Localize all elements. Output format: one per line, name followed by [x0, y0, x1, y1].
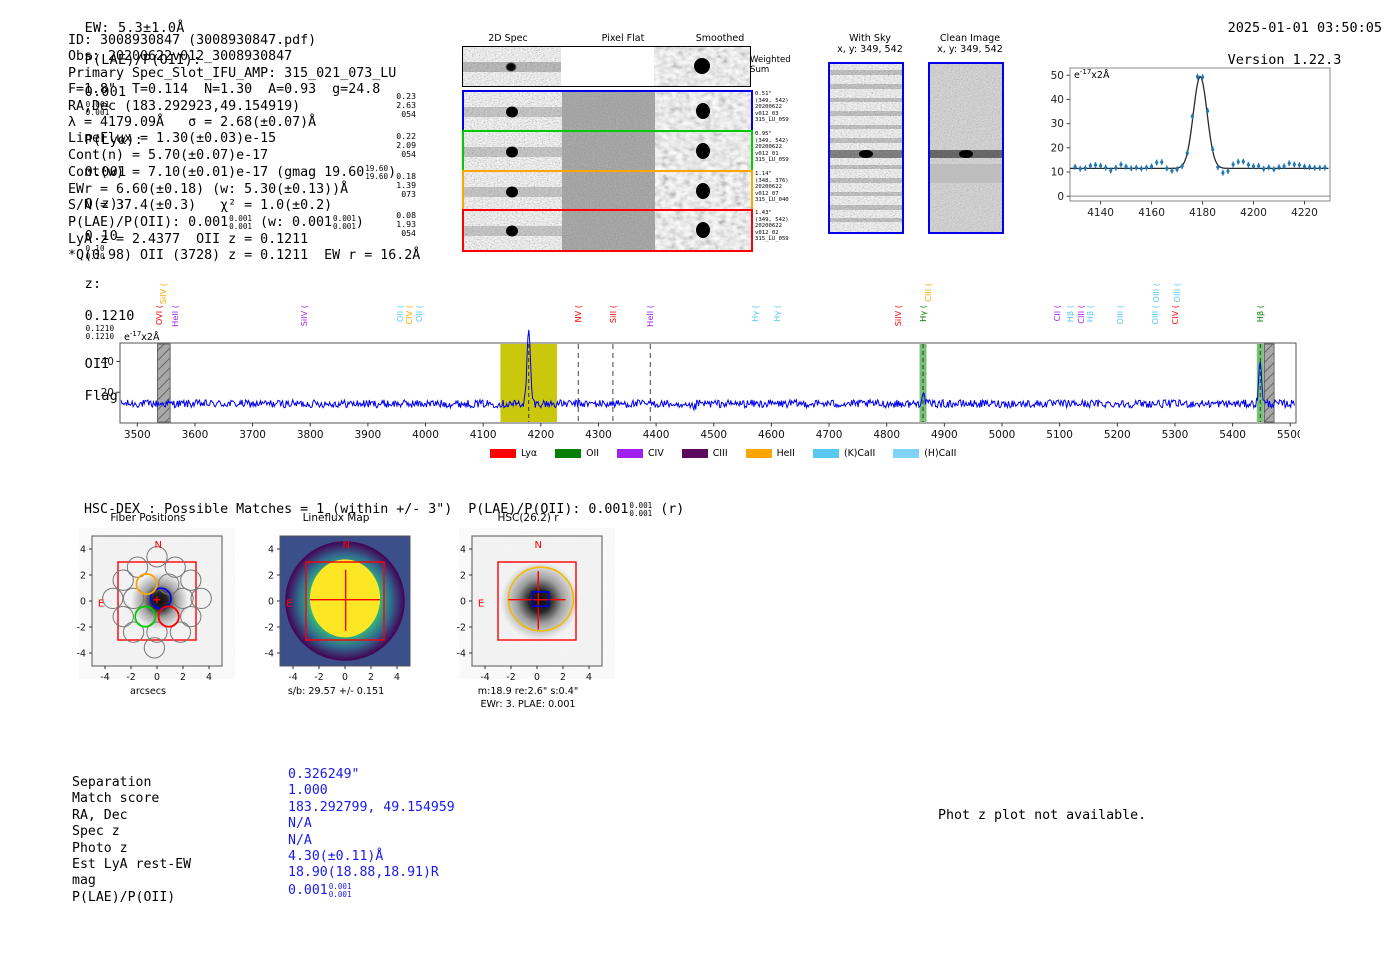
spec2d-row-right-label: 0.51" (349, 542) 20200622 v012_03 315_LU… — [755, 91, 789, 124]
legend-swatch — [617, 449, 643, 458]
match-table-label: Photo z — [72, 841, 191, 857]
spec2d-weighted-sum-label: Weighted Sum — [750, 55, 791, 75]
svg-text:-2: -2 — [77, 622, 86, 633]
svg-text:-4: -4 — [288, 672, 297, 683]
spectrum-line-label: Hβ ( — [1065, 305, 1075, 322]
legend-swatch — [682, 449, 708, 458]
spectrum-line-label: OIII ( — [1151, 283, 1161, 303]
svg-text:4: 4 — [586, 672, 592, 683]
spec2d-weighted-sum-pixelflat — [561, 47, 654, 86]
svg-text:E: E — [286, 598, 292, 609]
svg-text:4900: 4900 — [931, 429, 958, 441]
info-radec: RA,Dec (183.292923,49.154919) — [68, 99, 420, 115]
legend-swatch — [490, 449, 516, 458]
spec2d-row-left-label: 0.22 2.09 054 — [380, 132, 416, 160]
svg-text:30: 30 — [1051, 118, 1064, 130]
hsc-panel: Lineflux MapNE-4-4-2-2002244s/b: 29.57 +… — [248, 528, 424, 712]
hsc-panel-title: HSC(26.2) r — [440, 512, 616, 524]
info-lambda-sigma: λ = 4179.09Å σ = 2.68(±0.07)Å — [68, 115, 420, 131]
spec2d-weighted-sum-smoothed — [654, 47, 750, 86]
match-table-label: Est LyA rest-EW — [72, 857, 191, 873]
info-plae-poii: P(LAE)/P(OII): 0.0010.0010.001 (w: 0.001… — [68, 214, 420, 231]
spec2d-cell-pixelflat — [562, 132, 655, 171]
photz-plot-message: Phot z plot not available. — [938, 808, 1146, 823]
svg-text:0: 0 — [460, 596, 466, 607]
zoom-line-profile-chart: 4140416041804200422001020304050e-17x2Å — [1036, 60, 1336, 225]
spec2d-exposure-row — [462, 90, 753, 133]
legend-label: HeII — [777, 448, 795, 459]
legend-swatch — [746, 449, 772, 458]
svg-text:3500: 3500 — [124, 429, 151, 441]
spectrum-line-label: CIII ( — [923, 283, 933, 302]
svg-text:4200: 4200 — [527, 429, 554, 441]
svg-text:2: 2 — [460, 570, 466, 581]
svg-text:4400: 4400 — [643, 429, 670, 441]
spectrum-line-label: HeII ( — [170, 305, 180, 327]
info-ewr: EWr = 6.60(±0.18) (w: 5.30(±0.13))Å — [68, 182, 420, 198]
svg-text:2: 2 — [80, 570, 86, 581]
info-cont-w: Cont(w) = 7.10(±0.01)e-17 (gmag 19.6019.… — [68, 164, 420, 181]
svg-text:2: 2 — [560, 672, 566, 683]
svg-text:10: 10 — [1051, 167, 1064, 179]
svg-text:0: 0 — [268, 596, 274, 607]
svg-text:4800: 4800 — [873, 429, 900, 441]
info-classification: *Q(0.98) OII (3728) z = 0.1211 EW r = 16… — [68, 248, 420, 264]
spec2d-cell-pixelflat — [562, 172, 655, 211]
match-table-label: RA, Dec — [72, 808, 191, 824]
svg-text:4500: 4500 — [700, 429, 727, 441]
svg-text:5300: 5300 — [1162, 429, 1189, 441]
hsc-panel-sublabel-2: EWr: 3. PLAE: 0.001 — [440, 699, 616, 711]
svg-text:4300: 4300 — [585, 429, 612, 441]
spec2d-weighted-sum-2dspec — [463, 47, 561, 86]
info-cont-n: Cont(n) = 5.70(±0.07)e-17 — [68, 148, 420, 164]
svg-text:N: N — [535, 540, 542, 551]
svg-text:4: 4 — [80, 544, 86, 555]
svg-text:0: 0 — [342, 672, 348, 683]
hsc-panel-sublabel: s/b: 29.57 +/- 0.151 — [248, 686, 424, 698]
full-spectrum-legend: LyαOIICIVCIIIHeII(K)CaII(H)CaII — [490, 448, 974, 459]
svg-text:20: 20 — [1051, 142, 1064, 154]
spec2d-row-right-label: 0.95" (349, 542) 20200622 v012_01 315_LU… — [755, 131, 789, 164]
svg-text:2: 2 — [268, 570, 274, 581]
cutout-image-clean — [928, 62, 1004, 234]
svg-text:-2: -2 — [457, 622, 466, 633]
spec2d-exposure-row — [462, 170, 753, 213]
info-primary-spec-slot: Primary Spec_Slot_IFU_AMP: 315_021_073_L… — [68, 66, 420, 82]
spec2d-cell-2dspec — [464, 172, 562, 211]
spectrum-line-label: SiIV ( — [158, 283, 168, 304]
info-id: ID: 3008930847 (3008930847.pdf) — [68, 33, 420, 49]
svg-text:2: 2 — [180, 672, 186, 683]
svg-text:5500: 5500 — [1277, 429, 1300, 441]
spectrum-line-label: SiIV ( — [893, 305, 903, 326]
svg-text:-4: -4 — [100, 672, 109, 683]
svg-text:-4: -4 — [457, 648, 466, 659]
svg-text:40: 40 — [1051, 94, 1064, 106]
spectrum-line-label: OII ( — [414, 305, 424, 322]
svg-text:40: 40 — [101, 356, 114, 368]
match-table-label: Separation — [72, 775, 191, 791]
svg-text:4600: 4600 — [758, 429, 785, 441]
svg-text:4100: 4100 — [470, 429, 497, 441]
svg-text:-2: -2 — [126, 672, 135, 683]
spectrum-line-label: SiII ( — [608, 305, 618, 323]
match-table-value: 183.292799, 49.154959 — [288, 800, 455, 816]
info-seeing-throughput: F=1.8" T=0.114 N=1.30 A=0.93 g=24.8 — [68, 82, 420, 98]
legend-swatch — [813, 449, 839, 458]
legend-item: OII — [555, 448, 599, 459]
spec2d-weighted-sum-row — [462, 46, 751, 87]
legend-item: CIII — [682, 448, 728, 459]
spec2d-row-left-label: 0.18 1.39 073 — [380, 172, 416, 200]
match-table-label: P(LAE)/P(OII) — [72, 890, 191, 906]
spec2d-row-right-label: 1.43" (349, 542) 20200622 v012_02 315_LU… — [755, 210, 789, 243]
svg-text:2: 2 — [368, 672, 374, 683]
svg-text:50: 50 — [1051, 70, 1064, 82]
svg-text:4: 4 — [394, 672, 400, 683]
svg-text:-4: -4 — [77, 648, 86, 659]
hsc-panel-sublabel: arcsecs — [60, 686, 236, 698]
legend-swatch — [893, 449, 919, 458]
svg-text:5200: 5200 — [1104, 429, 1131, 441]
spec2d-col-title-smoothed: Smoothed — [670, 33, 770, 44]
legend-item: Lyα — [490, 448, 537, 459]
spec2d-panel-group: 2D Spec Pixel Flat Smoothed Weighted Sum… — [420, 33, 780, 258]
spectrum-line-label: NV ( — [573, 305, 583, 323]
header-timestamp: 2025-01-01 03:50:05 — [1228, 20, 1382, 36]
svg-text:5000: 5000 — [989, 429, 1016, 441]
svg-text:3800: 3800 — [297, 429, 324, 441]
svg-text:3700: 3700 — [239, 429, 266, 441]
hsc-panel: HSC(26.2) rNE-4-4-2-2002244m:18.9 re:2.6… — [440, 528, 616, 712]
spec2d-row-left-label: 0.23 2.63 054 — [380, 92, 416, 120]
spectrum-line-label: OVI ( — [154, 305, 164, 325]
spectrum-line-label: Hγ ( — [772, 305, 782, 322]
svg-text:20: 20 — [101, 387, 114, 399]
spec2d-cell-2dspec — [464, 211, 562, 250]
svg-text:4180: 4180 — [1189, 207, 1216, 219]
spectrum-line-label: CII ( — [1052, 305, 1062, 321]
header-timestamp-version: 2025-01-01 03:50:05 Version 1.22.3 — [1211, 4, 1382, 68]
legend-label: OII — [586, 448, 599, 459]
spec2d-cell-smoothed — [655, 172, 751, 211]
legend-swatch — [555, 449, 581, 458]
svg-text:0: 0 — [80, 596, 86, 607]
match-table-value: 4.30(±0.11)Å — [288, 849, 455, 865]
svg-text:4: 4 — [268, 544, 274, 555]
legend-label: (H)CaII — [924, 448, 956, 459]
svg-text:4: 4 — [206, 672, 212, 683]
svg-text:-4: -4 — [480, 672, 489, 683]
hsc-panel-title: Lineflux Map — [248, 512, 424, 524]
spec2d-cell-2dspec — [464, 132, 562, 171]
legend-label: (K)CaII — [844, 448, 875, 459]
info-snr-chi2: S/N = 37.4(±0.3) χ² = 1.0(±0.2) — [68, 198, 420, 214]
svg-text:4700: 4700 — [816, 429, 843, 441]
match-table-value: 18.90(18.88,18.91)R — [288, 865, 455, 881]
spectrum-line-label: OIII ( — [1150, 305, 1160, 325]
svg-text:N: N — [343, 540, 350, 551]
spec2d-exposure-row — [462, 209, 753, 252]
match-table-value: N/A — [288, 816, 455, 832]
spectrum-line-label: CIV ( — [1170, 305, 1180, 325]
legend-item: CIV — [617, 448, 664, 459]
legend-label: CIV — [648, 448, 664, 459]
spectrum-line-label: OIII ( — [1115, 305, 1125, 325]
spec2d-cell-smoothed — [655, 92, 751, 131]
svg-text:E: E — [478, 598, 484, 609]
svg-text:N: N — [155, 540, 162, 551]
legend-item: (K)CaII — [813, 448, 875, 459]
info-redshifts: LyA z = 2.4377 OII z = 0.1211 — [68, 232, 420, 248]
match-table-label: Match score — [72, 791, 191, 807]
spectrum-line-label: Hγ ( — [750, 305, 760, 322]
match-table-value: 0.0010.0010.001 — [288, 882, 455, 899]
legend-label: CIII — [713, 448, 728, 459]
spec2d-cell-pixelflat — [562, 92, 655, 131]
svg-text:E: E — [98, 598, 104, 609]
full-spectrum-chart: 3500360037003800390040004100420043004400… — [84, 285, 1300, 445]
svg-text:3600: 3600 — [182, 429, 209, 441]
hsc-panel-sublabel: m:18.9 re:2.6" s:0.4" — [440, 686, 616, 698]
detection-info-block: ID: 3008930847 (3008930847.pdf) Obs: 202… — [68, 33, 420, 265]
svg-text:3900: 3900 — [355, 429, 382, 441]
spectrum-line-label: Hβ ( — [1255, 305, 1265, 322]
svg-text:-2: -2 — [314, 672, 323, 683]
match-table-value: 0.326249" — [288, 767, 455, 783]
svg-text:4: 4 — [460, 544, 466, 555]
spectrum-line-label: HeII ( — [645, 305, 655, 327]
match-table-value: 1.000 — [288, 783, 455, 799]
svg-text:5400: 5400 — [1219, 429, 1246, 441]
spec2d-row-right-label: 1.14" (348, 376) 20200622 v012_07 315_LU… — [755, 171, 789, 204]
svg-text:4200: 4200 — [1240, 207, 1267, 219]
spectrum-line-label: SiIV ( — [299, 305, 309, 326]
legend-label: Lyα — [521, 448, 537, 459]
spec2d-row-left-label: 0.08 1.93 054 — [380, 211, 416, 239]
spectrum-line-label: Hβ ( — [1085, 305, 1095, 322]
hsc-panel-title: Fiber Positions — [60, 512, 236, 524]
svg-text:0: 0 — [534, 672, 540, 683]
cutout-title-with-sky: With Skyx, y: 349, 542 — [822, 33, 918, 55]
svg-text:-2: -2 — [506, 672, 515, 683]
hsc-panel: Fiber PositionsNE-4-4-2-2002244arcsecs — [60, 528, 236, 712]
svg-text:4220: 4220 — [1291, 207, 1318, 219]
spectrum-line-label: CIV ( — [404, 305, 414, 325]
svg-text:4000: 4000 — [412, 429, 439, 441]
match-table-value: N/A — [288, 833, 455, 849]
legend-item: HeII — [746, 448, 795, 459]
spectrum-line-label: Hγ ( — [918, 305, 928, 322]
spec2d-col-title-2dspec: 2D Spec — [448, 33, 568, 44]
spec2d-col-title-pixelflat: Pixel Flat — [568, 33, 678, 44]
svg-text:4160: 4160 — [1138, 207, 1165, 219]
zoom-chart-units-label: e-17x2Å — [1074, 68, 1109, 81]
spectrum-line-label: OIII ( — [1172, 283, 1182, 303]
legend-item: (H)CaII — [893, 448, 956, 459]
svg-text:-4: -4 — [265, 648, 274, 659]
svg-text:5100: 5100 — [1046, 429, 1073, 441]
svg-text:4140: 4140 — [1087, 207, 1114, 219]
cutout-title-clean-image: Clean Imagex, y: 349, 542 — [922, 33, 1018, 55]
match-table-labels: SeparationMatch scoreRA, DecSpec zPhoto … — [72, 775, 191, 906]
info-lineflux: LineFlux = 1.30(±0.03)e-15 — [68, 131, 420, 147]
spec2d-cell-2dspec — [464, 92, 562, 131]
spec2d-cell-pixelflat — [562, 211, 655, 250]
match-table-label: Spec z — [72, 824, 191, 840]
info-obs: Obs: 20200622v012_3008930847 — [68, 49, 420, 65]
svg-text:0: 0 — [1057, 191, 1064, 203]
svg-text:0: 0 — [154, 672, 160, 683]
svg-text:-2: -2 — [265, 622, 274, 633]
match-table-label: mag — [72, 873, 191, 889]
spec2d-cell-smoothed — [655, 211, 751, 250]
spec2d-cell-smoothed — [655, 132, 751, 171]
spec2d-exposure-row — [462, 130, 753, 173]
full-spectrum-units-label: e-17x2Å — [124, 330, 159, 343]
cutout-image-with-sky — [828, 62, 904, 234]
match-table-values: 0.326249"1.000183.292799, 49.154959N/AN/… — [288, 767, 455, 899]
